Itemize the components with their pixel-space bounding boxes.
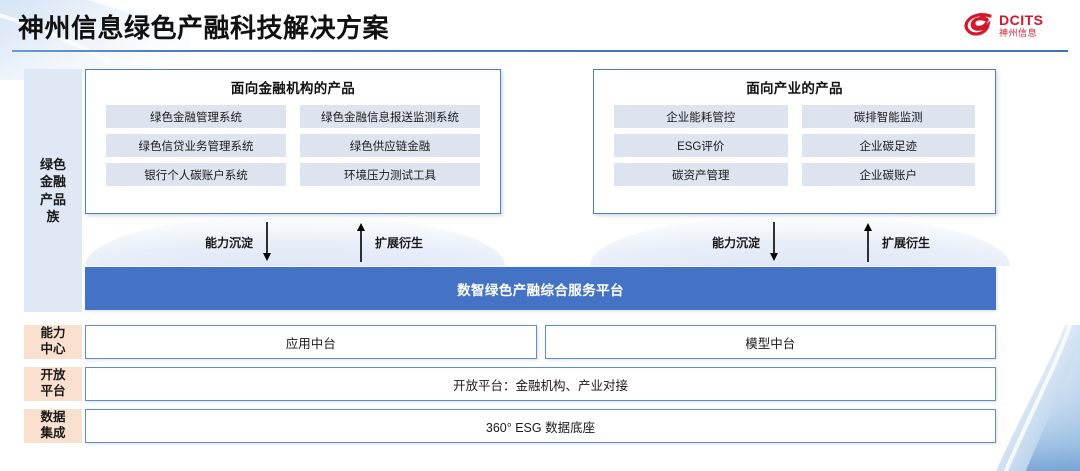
platform-bar-title: 数智绿色产融综合服务平台: [457, 279, 624, 299]
arrow-down-icon: [261, 222, 273, 262]
flow-left-capability-precipitation: 能力沉淀: [205, 222, 273, 262]
slide-header: 神州信息绿色产融科技解决方案 DCITS 神州信息: [0, 0, 1080, 52]
product-chip[interactable]: 碳资产管理: [614, 163, 788, 186]
row-capability-center: 能力中心 应用中台 模型中台: [24, 325, 996, 359]
row-label-open-platform: 开放平台: [24, 367, 82, 401]
row-box-text: 开放平台：金融机构、产业对接: [453, 375, 628, 394]
row-body: 应用中台 模型中台: [85, 325, 996, 359]
product-chip[interactable]: 银行个人碳账户系统: [106, 163, 286, 186]
row-body: 开放平台：金融机构、产业对接: [85, 367, 996, 401]
row-box-text: 360° ESG 数据底座: [486, 417, 595, 436]
flow-label-up: 扩展衍生: [375, 234, 423, 251]
product-chip[interactable]: 企业碳足迹: [802, 134, 976, 157]
logo-text-en: DCITS: [999, 13, 1044, 27]
page-title: 神州信息绿色产融科技解决方案: [18, 8, 389, 45]
flow-right-expansion-derivation: 扩展衍生: [862, 222, 930, 262]
slide-canvas: 神州信息绿色产融科技解决方案 DCITS 神州信息 绿色金融产品族 面向金融机构…: [0, 0, 1080, 471]
row-open-platform: 开放平台 开放平台：金融机构、产业对接: [24, 367, 996, 401]
flow-right-capability-precipitation: 能力沉淀: [712, 222, 780, 262]
decorative-hill-left: [85, 214, 505, 266]
row-box-text: 应用中台: [286, 333, 336, 352]
flow-left-expansion-derivation: 扩展衍生: [355, 222, 423, 262]
product-chip[interactable]: 绿色供应链金融: [300, 134, 480, 157]
product-chip[interactable]: ESG评价: [614, 134, 788, 157]
row-label-text: 数据集成: [39, 410, 67, 441]
row-box-application-midend[interactable]: 应用中台: [85, 325, 537, 359]
product-chip-grid: 绿色金融管理系统 绿色金融信息报送监测系统 绿色信贷业务管理系统 绿色供应链金融…: [86, 97, 500, 186]
platform-bar[interactable]: 数智绿色产融综合服务平台: [85, 267, 996, 310]
panel-industry-products: 面向产业的产品 企业能耗管控 碳排智能监测 ESG评价 企业碳足迹 碳资产管理 …: [593, 69, 996, 214]
row-label-text: 开放平台: [39, 368, 67, 399]
logo-wordmark: DCITS 神州信息: [999, 13, 1044, 38]
family-label-text: 绿色金融产品族: [38, 156, 68, 225]
arrow-down-icon: [768, 222, 780, 262]
product-chip[interactable]: 碳排智能监测: [802, 105, 976, 128]
logo-text-cn: 神州信息: [999, 29, 1044, 38]
product-chip[interactable]: 环境压力测试工具: [300, 163, 480, 186]
row-body: 360° ESG 数据底座: [85, 409, 996, 443]
brand-logo: DCITS 神州信息: [964, 6, 1068, 44]
row-box-open-platform[interactable]: 开放平台：金融机构、产业对接: [85, 367, 996, 401]
arrow-up-icon: [355, 222, 367, 262]
arrow-up-icon: [862, 222, 874, 262]
decorative-hill-right: [590, 214, 1010, 266]
green-finance-product-family-label: 绿色金融产品族: [24, 69, 82, 312]
product-chip-grid: 企业能耗管控 碳排智能监测 ESG评价 企业碳足迹 碳资产管理 企业碳账户: [594, 97, 995, 186]
panel-financial-institution-products: 面向金融机构的产品 绿色金融管理系统 绿色金融信息报送监测系统 绿色信贷业务管理…: [85, 69, 501, 214]
product-chip[interactable]: 绿色金融管理系统: [106, 105, 286, 128]
flow-label-up: 扩展衍生: [882, 234, 930, 251]
product-chip[interactable]: 绿色信贷业务管理系统: [106, 134, 286, 157]
product-chip[interactable]: 企业能耗管控: [614, 105, 788, 128]
flow-label-down: 能力沉淀: [205, 234, 253, 251]
row-label-data-integration: 数据集成: [24, 409, 82, 443]
flow-label-down: 能力沉淀: [712, 234, 760, 251]
title-divider: [12, 50, 1068, 52]
row-box-esg-data-foundation[interactable]: 360° ESG 数据底座: [85, 409, 996, 443]
dcits-swirl-logo-icon: [964, 12, 994, 38]
panel-title: 面向金融机构的产品: [86, 77, 500, 97]
row-data-integration: 数据集成 360° ESG 数据底座: [24, 409, 996, 443]
product-chip[interactable]: 企业碳账户: [802, 163, 976, 186]
row-label-capability-center: 能力中心: [24, 325, 82, 359]
panel-title: 面向产业的产品: [594, 77, 995, 97]
row-label-text: 能力中心: [39, 326, 67, 357]
product-chip[interactable]: 绿色金融信息报送监测系统: [300, 105, 480, 128]
row-box-model-midend[interactable]: 模型中台: [545, 325, 997, 359]
row-box-text: 模型中台: [745, 333, 795, 352]
